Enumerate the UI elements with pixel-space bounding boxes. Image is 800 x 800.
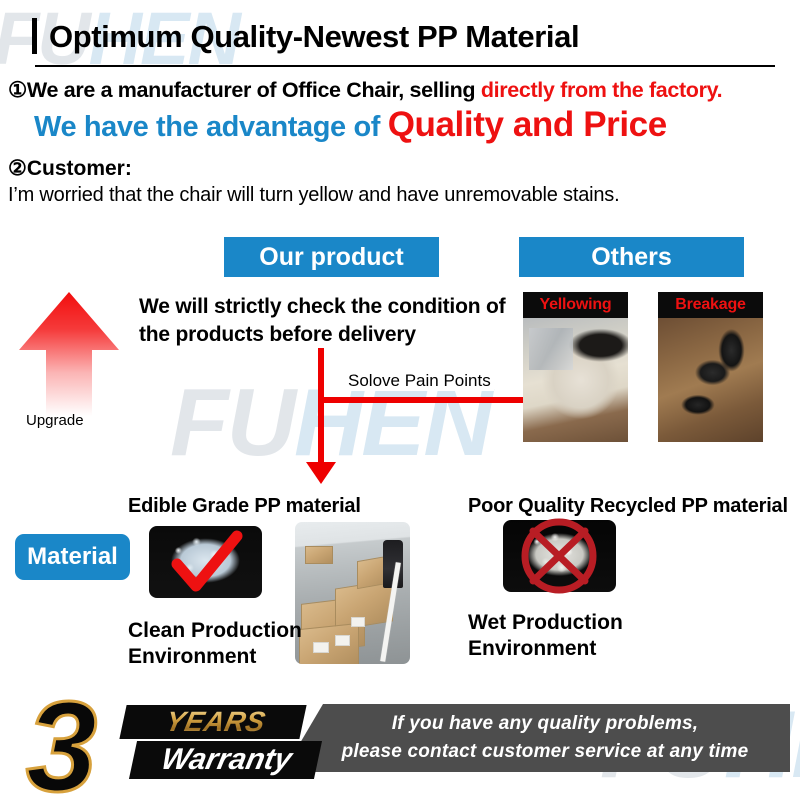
photo-clean-production <box>295 522 410 664</box>
photo-image-yellowing <box>523 318 628 442</box>
wet-production-label: Wet Production Environment <box>468 610 623 663</box>
material-badge: Material <box>15 534 130 580</box>
photo-caption: Yellowing <box>523 292 628 318</box>
page-title: Optimum Quality-Newest PP Material <box>49 21 579 52</box>
poor-quality-title: Poor Quality Recycled PP material <box>468 495 788 518</box>
warranty-word-label: Warranty <box>135 741 318 779</box>
upgrade-label: Upgrade <box>26 412 84 429</box>
intro-line-1-highlight: directly from the factory. <box>481 78 722 102</box>
intro-block: ①We are a manufacturer of Office Chair, … <box>8 78 798 209</box>
watermark-fu-text: FU <box>170 369 294 476</box>
photo-recycled-pp-pellets <box>503 520 616 592</box>
intro-line-1: ①We are a manufacturer of Office Chair, … <box>8 78 798 103</box>
clean-production-line-1: Clean Production <box>128 618 302 644</box>
photo-element-label <box>313 642 329 653</box>
intro-line-2: We have the advantage of Quality and Pri… <box>34 103 798 147</box>
customer-label: ②Customer: <box>8 156 798 181</box>
photo-element-label <box>335 635 350 646</box>
banner-others: Others <box>519 237 744 277</box>
wet-production-line-1: Wet Production <box>468 610 623 636</box>
warranty-years-label: YEARS <box>129 705 301 739</box>
photo-image-breakage <box>658 318 763 442</box>
our-product-description: We will strictly check the condition of … <box>139 293 509 350</box>
intro-line-2-highlight: Quality and Price <box>388 105 667 144</box>
wet-production-line-2: Environment <box>468 636 623 662</box>
warranty-footer: If you have any quality problems, please… <box>0 686 800 800</box>
photo-edible-pp-pellets <box>149 526 262 598</box>
clean-production-label: Clean Production Environment <box>128 618 302 671</box>
photo-caption: Breakage <box>658 292 763 318</box>
photo-element-box <box>299 623 359 664</box>
connector-horizontal-line <box>320 397 523 403</box>
intro-line-1-prefix: ①We are a manufacturer of Office Chair, … <box>8 78 481 102</box>
edible-grade-title: Edible Grade PP material <box>128 495 361 518</box>
title-accent-bar <box>32 18 37 54</box>
clean-production-line-2: Environment <box>128 644 302 670</box>
support-message-line-2: please contact customer service at any t… <box>342 738 749 766</box>
poster-root: FUHEN FUHEN FUHEN Optimum Quality-Newest… <box>0 0 800 800</box>
customer-quote: I’m worried that the chair will turn yel… <box>8 182 798 209</box>
support-message-text: If you have any quality problems, please… <box>300 708 790 768</box>
upgrade-arrow-group: Upgrade <box>14 288 124 458</box>
title-divider <box>35 65 775 67</box>
intro-line-2-blue: We have the advantage of <box>34 111 388 143</box>
photo-element-box <box>305 546 333 564</box>
photo-element-label <box>351 617 365 627</box>
solve-pain-points-label: Solove Pain Points <box>345 371 494 391</box>
photo-card-yellowing: Yellowing <box>523 292 628 442</box>
support-message-line-1: If you have any quality problems, <box>392 710 698 738</box>
connector-down-arrowhead-icon <box>306 462 336 484</box>
upgrade-arrow-icon <box>14 288 124 418</box>
photo-card-breakage: Breakage <box>658 292 763 442</box>
banner-our-product: Our product <box>224 237 439 277</box>
warranty-years-number: 3 <box>26 684 91 800</box>
connector-vertical-line <box>318 348 324 468</box>
header: Optimum Quality-Newest PP Material <box>0 18 800 54</box>
